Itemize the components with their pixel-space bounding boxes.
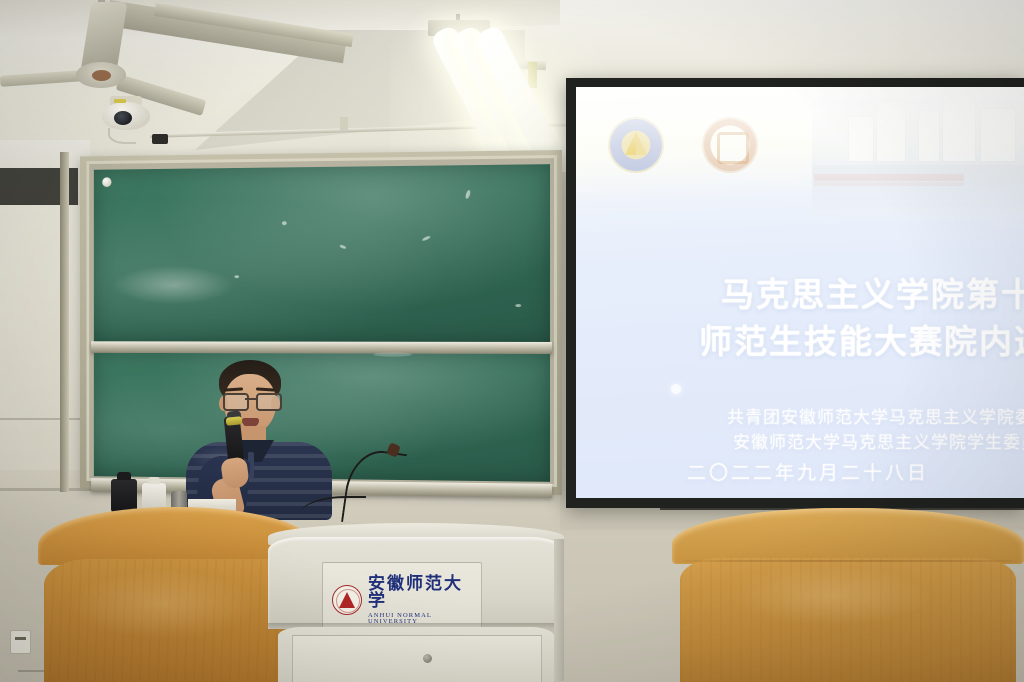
communist-youth-league-emblem-icon	[610, 119, 662, 171]
building-shape	[876, 100, 906, 162]
conduit-junction-box	[152, 134, 168, 144]
chalk-mark	[234, 275, 239, 278]
chalk-mark	[282, 221, 287, 225]
blackboard-panel-top	[94, 164, 550, 342]
desk-right-top	[672, 508, 1024, 564]
gooseneck-microphone-icon	[346, 438, 402, 524]
slide-subtitle-line-2: 安徽师范大学马克思主义学院学生委员	[662, 430, 1024, 455]
slide-title-line-1: 马克思主义学院第十九	[672, 271, 1024, 318]
podium-university-logo: 安徽师范大学 ANHUI NORMAL UNIVERSITY	[332, 580, 474, 620]
slide-subtitle-line-1: 共青团安徽师范大学马克思主义学院委	[656, 405, 1024, 430]
slide-decor-dot	[671, 384, 681, 394]
chalk-mark	[339, 244, 346, 249]
ceiling-fan-icon	[76, 62, 126, 88]
slide-title-line-2: 师范生技能大赛院内选	[650, 318, 1024, 365]
building-shape	[848, 116, 874, 162]
desk-right-sheen	[732, 566, 932, 626]
podium-right-edge	[554, 539, 564, 681]
desk-left-sheen	[68, 569, 258, 639]
university-seal-emblem-icon	[704, 119, 756, 171]
slide-subtitle: 共青团安徽师范大学马克思主义学院委 安徽师范大学马克思主义学院学生委员 二〇二二…	[576, 405, 1024, 486]
building-shape	[918, 110, 940, 162]
glasses-bridge	[245, 398, 256, 400]
slide-title: 马克思主义学院第十九 师范生技能大赛院内选	[576, 271, 1024, 365]
podium-lower-cabinet	[278, 627, 554, 682]
building-shape	[942, 94, 976, 162]
podium-cabinet-panel	[292, 635, 542, 682]
cabinet-lock-icon	[423, 654, 432, 663]
projector-screen-frame: 马克思主义学院第十九 师范生技能大赛院内选 共青团安徽师范大学马克思主义学院委 …	[566, 78, 1024, 508]
chalk-mark	[465, 190, 471, 200]
blackboard-sheen	[112, 265, 234, 304]
building-shape	[980, 108, 1016, 162]
chalk-mark	[373, 353, 412, 357]
seal-ring	[336, 589, 360, 613]
podium-body: 安徽师范大学 ANHUI NORMAL UNIVERSITY	[268, 537, 564, 629]
speaker-person	[186, 360, 332, 520]
bridge-shape	[814, 182, 964, 186]
blackboard-knob	[102, 177, 111, 187]
wall-left	[0, 205, 90, 505]
camera-label	[114, 99, 126, 103]
chalk-mark	[422, 235, 431, 241]
lecture-hall-photo: 马克思主义学院第十九 师范生技能大赛院内选 共青团安徽师范大学马克思主义学院委 …	[0, 0, 1024, 682]
microphone-gold-band	[226, 416, 243, 426]
screen-background-photo	[812, 97, 1024, 217]
podium-logo-text: 安徽师范大学 ANHUI NORMAL UNIVERSITY	[368, 575, 474, 626]
glasses-icon	[222, 393, 279, 407]
camera-lens	[114, 111, 132, 125]
bridge-shape	[814, 174, 964, 181]
wooden-desk-right	[672, 508, 1024, 682]
wall-seam	[0, 418, 92, 420]
university-seal-icon	[332, 585, 362, 615]
slide-date: 二〇二二年九月二十八日	[584, 461, 1024, 486]
chalk-mark	[515, 304, 521, 307]
glasses-lens	[223, 393, 249, 411]
desk-right-seam	[682, 560, 1014, 562]
lectern-podium: 安徽师范大学 ANHUI NORMAL UNIVERSITY	[268, 523, 564, 682]
podium-logo-chinese: 安徽师范大学	[368, 575, 474, 609]
blackboard-left-edge	[60, 152, 69, 492]
gooseneck-stem	[341, 446, 407, 529]
glasses-lens	[256, 393, 282, 411]
projector-screen: 马克思主义学院第十九 师范生技能大赛院内选 共青团安徽师范大学马克思主义学院委 …	[576, 87, 1024, 498]
conduit-clip	[340, 117, 348, 131]
